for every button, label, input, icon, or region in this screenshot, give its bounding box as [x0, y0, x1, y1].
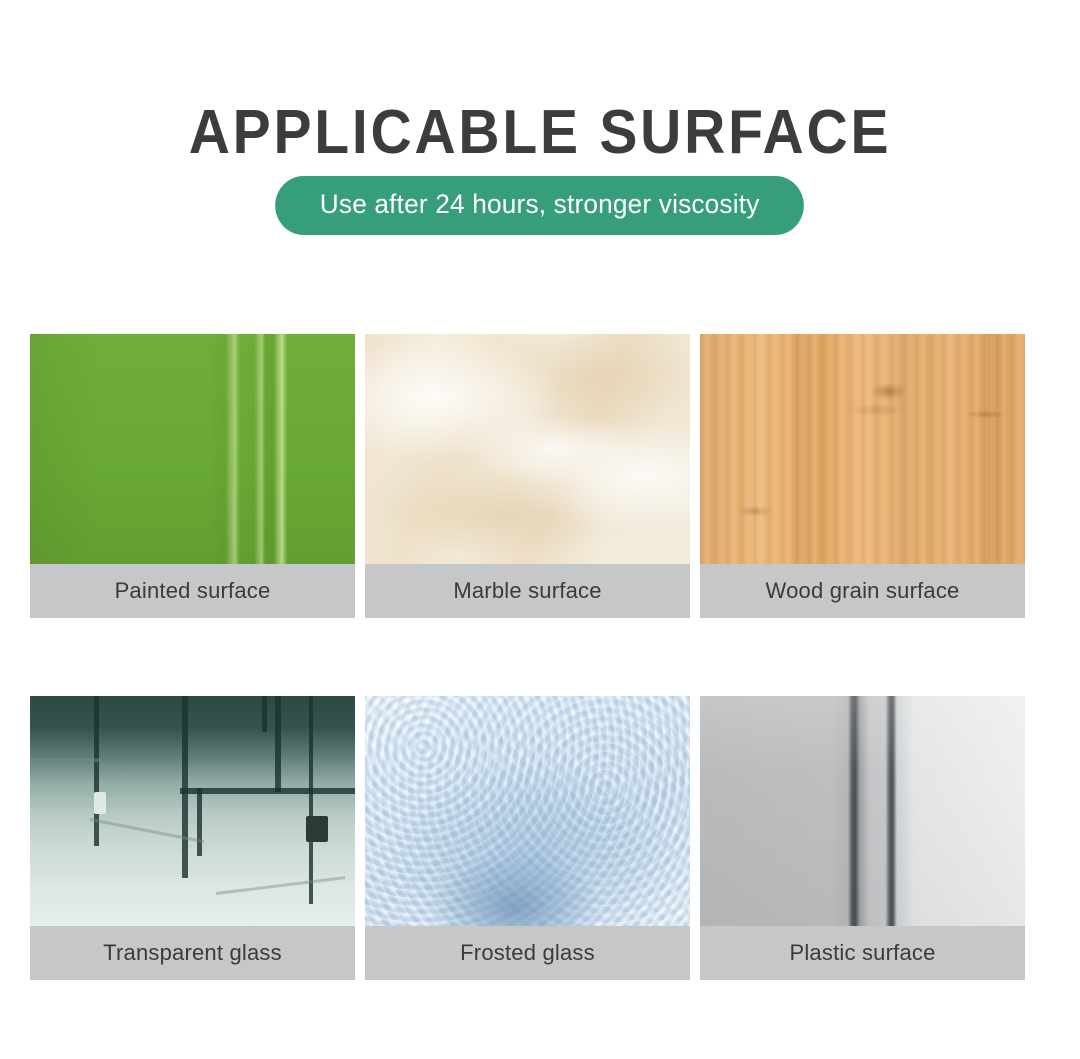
surface-card-label: Marble surface	[365, 564, 690, 618]
door-handle-icon	[306, 816, 328, 842]
door-stopper	[94, 792, 106, 814]
glass-frame-line	[180, 788, 355, 794]
surface-card-painted[interactable]: Painted surface	[30, 334, 355, 618]
surface-row: Painted surface Marble surface Wood grai…	[30, 334, 1050, 618]
surface-card-wood-grain[interactable]: Wood grain surface	[700, 334, 1025, 618]
wood-grain-surface-image	[700, 334, 1025, 564]
glass-frame-line	[309, 696, 313, 904]
surface-row: Transparent glass Frosted glass Plastic …	[30, 696, 1050, 980]
floor-reflection-line	[30, 758, 100, 762]
surface-card-frosted-glass[interactable]: Frosted glass	[365, 696, 690, 980]
glass-frame-line	[197, 788, 202, 856]
marble-surface-image	[365, 334, 690, 564]
surface-card-transparent-glass[interactable]: Transparent glass	[30, 696, 355, 980]
surface-grid: Painted surface Marble surface Wood grai…	[30, 334, 1050, 980]
surface-card-marble[interactable]: Marble surface	[365, 334, 690, 618]
plastic-surface-image	[700, 696, 1025, 926]
glass-frame-line	[94, 696, 99, 846]
glass-frame-line	[182, 696, 188, 878]
glass-frame-line	[275, 696, 281, 792]
floor-reflection-line	[216, 876, 345, 895]
surface-card-label: Painted surface	[30, 564, 355, 618]
painted-surface-image	[30, 334, 355, 564]
page-title: APPLICABLE SURFACE	[43, 100, 1037, 165]
surface-card-label: Transparent glass	[30, 926, 355, 980]
surface-card-label: Wood grain surface	[700, 564, 1025, 618]
glass-frame-line	[262, 696, 267, 732]
surface-card-label: Frosted glass	[365, 926, 690, 980]
badge-container: Use after 24 hours, stronger viscosity	[0, 176, 1080, 235]
viscosity-badge: Use after 24 hours, stronger viscosity	[276, 176, 805, 235]
transparent-glass-image	[30, 696, 355, 926]
surface-card-plastic[interactable]: Plastic surface	[700, 696, 1025, 980]
plastic-sheen-overlay	[700, 696, 1025, 926]
frosted-glass-image	[365, 696, 690, 926]
surface-card-label: Plastic surface	[700, 926, 1025, 980]
